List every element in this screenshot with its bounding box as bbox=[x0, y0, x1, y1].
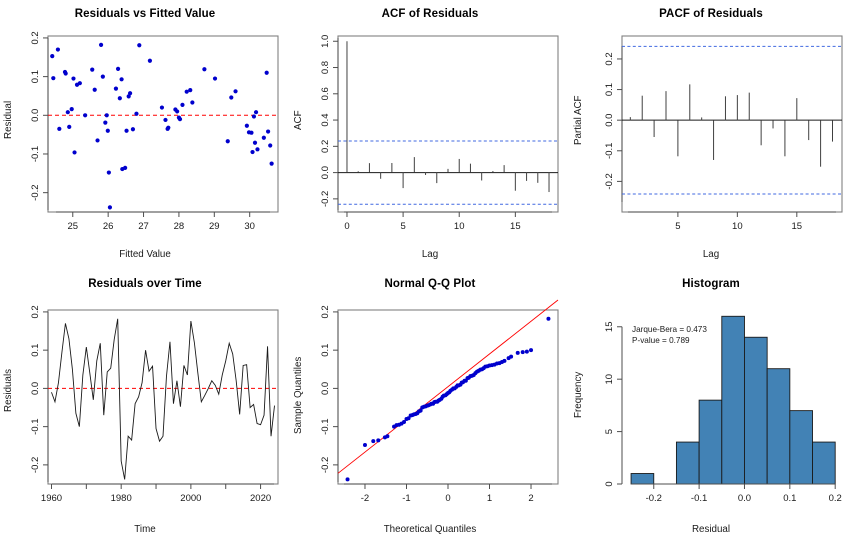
svg-text:-0.1: -0.1 bbox=[30, 418, 41, 434]
svg-text:5: 5 bbox=[604, 429, 615, 434]
svg-text:0.0: 0.0 bbox=[30, 109, 41, 122]
x-axis-label: Theoretical Quantiles bbox=[290, 524, 570, 535]
panel-pacf-of-residuals: PACF of Residuals 51015-0.2-0.10.00.10.2… bbox=[570, 0, 852, 270]
plot-svg: 051015-0.20.00.20.40.60.81.0 bbox=[290, 0, 570, 270]
svg-text:28: 28 bbox=[174, 221, 185, 232]
plot-svg: 1960198020002020-0.2-0.10.00.10.2 bbox=[0, 270, 290, 543]
y-axis-label: Sample Quantiles bbox=[293, 290, 304, 500]
plot-area-residuals-vs-fitted: 252627282930-0.2-0.10.00.10.2 bbox=[0, 0, 290, 270]
y-axis-label: Residual bbox=[3, 20, 14, 220]
panel-normal-qq-plot: Normal Q-Q Plot -2-1012-0.2-0.10.00.10.2… bbox=[290, 270, 570, 543]
y-axis-label: Frequency bbox=[573, 290, 584, 500]
svg-text:-0.2: -0.2 bbox=[646, 493, 662, 504]
svg-text:-1: -1 bbox=[402, 493, 410, 504]
svg-text:1: 1 bbox=[487, 493, 492, 504]
panel-title: Residuals vs Fitted Value bbox=[0, 8, 290, 20]
svg-text:-2: -2 bbox=[361, 493, 369, 504]
svg-text:1.0: 1.0 bbox=[320, 35, 331, 48]
plot-area-acf: 051015-0.20.00.20.40.60.81.0 bbox=[290, 0, 570, 270]
svg-text:25: 25 bbox=[67, 221, 78, 232]
svg-text:0.2: 0.2 bbox=[829, 493, 842, 504]
svg-text:26: 26 bbox=[103, 221, 114, 232]
svg-text:2: 2 bbox=[528, 493, 533, 504]
svg-text:0: 0 bbox=[604, 481, 615, 486]
svg-text:0.1: 0.1 bbox=[604, 83, 615, 96]
svg-text:0.2: 0.2 bbox=[320, 305, 331, 318]
svg-text:5: 5 bbox=[400, 221, 405, 232]
svg-text:0.2: 0.2 bbox=[320, 140, 331, 153]
svg-text:27: 27 bbox=[138, 221, 149, 232]
svg-text:0: 0 bbox=[344, 221, 349, 232]
svg-text:-0.2: -0.2 bbox=[320, 191, 331, 207]
y-axis-label: ACF bbox=[293, 20, 304, 220]
svg-text:-0.2: -0.2 bbox=[30, 184, 41, 200]
svg-text:-0.1: -0.1 bbox=[30, 146, 41, 162]
svg-text:5: 5 bbox=[675, 221, 680, 232]
svg-text:0.2: 0.2 bbox=[604, 52, 615, 65]
svg-text:0.1: 0.1 bbox=[783, 493, 796, 504]
y-axis-label: Partial ACF bbox=[573, 20, 584, 220]
svg-text:2020: 2020 bbox=[250, 493, 271, 504]
plot-svg: -0.2-0.10.00.10.2051015 bbox=[570, 270, 852, 543]
svg-text:0.1: 0.1 bbox=[30, 344, 41, 357]
svg-text:-0.2: -0.2 bbox=[604, 173, 615, 189]
panel-histogram: Histogram -0.2-0.10.00.10.2051015 Jarque… bbox=[570, 270, 852, 543]
plot-svg: 51015-0.2-0.10.00.10.2 bbox=[570, 0, 852, 270]
panel-title: PACF of Residuals bbox=[570, 8, 852, 20]
svg-text:0.2: 0.2 bbox=[30, 305, 41, 318]
panel-title: Normal Q-Q Plot bbox=[290, 278, 570, 290]
plot-svg: -2-1012-0.2-0.10.00.10.2 bbox=[290, 270, 570, 543]
p-value-annotation: P-value = 0.789 bbox=[632, 335, 690, 346]
svg-text:-0.2: -0.2 bbox=[30, 457, 41, 473]
x-axis-label: Residual bbox=[570, 524, 852, 535]
svg-text:-0.1: -0.1 bbox=[604, 143, 615, 159]
panel-residuals-vs-fitted: Residuals vs Fitted Value 252627282930-0… bbox=[0, 0, 290, 270]
svg-text:-0.1: -0.1 bbox=[691, 493, 707, 504]
svg-text:30: 30 bbox=[244, 221, 255, 232]
svg-text:0: 0 bbox=[445, 493, 450, 504]
panel-title: Histogram bbox=[570, 278, 852, 290]
svg-text:2000: 2000 bbox=[180, 493, 201, 504]
plot-svg: 252627282930-0.2-0.10.00.10.2 bbox=[0, 0, 290, 270]
svg-text:-0.2: -0.2 bbox=[320, 457, 331, 473]
svg-text:0.2: 0.2 bbox=[30, 31, 41, 44]
svg-text:1960: 1960 bbox=[41, 493, 62, 504]
panel-title: ACF of Residuals bbox=[290, 8, 570, 20]
svg-text:10: 10 bbox=[604, 374, 615, 385]
svg-text:15: 15 bbox=[510, 221, 521, 232]
svg-text:-0.1: -0.1 bbox=[320, 418, 331, 434]
x-axis-label: Lag bbox=[290, 249, 570, 260]
x-axis-label: Time bbox=[0, 524, 290, 535]
svg-text:0.1: 0.1 bbox=[30, 70, 41, 83]
svg-text:15: 15 bbox=[792, 221, 803, 232]
svg-text:0.8: 0.8 bbox=[320, 61, 331, 74]
svg-text:0.6: 0.6 bbox=[320, 87, 331, 100]
plot-area-residuals-over-time: 1960198020002020-0.2-0.10.00.10.2 bbox=[0, 270, 290, 543]
x-axis-label: Fitted Value bbox=[0, 249, 290, 260]
svg-text:0.0: 0.0 bbox=[320, 166, 331, 179]
plot-area-histogram: -0.2-0.10.00.10.2051015 bbox=[570, 270, 852, 543]
panel-title: Residuals over Time bbox=[0, 278, 290, 290]
svg-text:15: 15 bbox=[604, 321, 615, 332]
svg-text:0.4: 0.4 bbox=[320, 113, 331, 126]
plot-area-pacf: 51015-0.2-0.10.00.10.2 bbox=[570, 0, 852, 270]
svg-text:1980: 1980 bbox=[111, 493, 132, 504]
x-axis-label: Lag bbox=[570, 249, 852, 260]
panel-residuals-over-time: Residuals over Time 1960198020002020-0.2… bbox=[0, 270, 290, 543]
svg-text:0.1: 0.1 bbox=[320, 344, 331, 357]
svg-text:10: 10 bbox=[732, 221, 743, 232]
svg-text:0.0: 0.0 bbox=[30, 382, 41, 395]
svg-text:0.0: 0.0 bbox=[320, 382, 331, 395]
jarque-bera-annotation: Jarque-Bera = 0.473 bbox=[632, 324, 707, 335]
svg-text:29: 29 bbox=[209, 221, 220, 232]
svg-text:0.0: 0.0 bbox=[604, 114, 615, 127]
y-axis-label: Residuals bbox=[3, 290, 14, 490]
svg-text:0.0: 0.0 bbox=[738, 493, 751, 504]
diagnostics-panel-grid: Residuals vs Fitted Value 252627282930-0… bbox=[0, 0, 852, 543]
plot-area-qq: -2-1012-0.2-0.10.00.10.2 bbox=[290, 270, 570, 543]
svg-text:10: 10 bbox=[454, 221, 465, 232]
panel-acf-of-residuals: ACF of Residuals 051015-0.20.00.20.40.60… bbox=[290, 0, 570, 270]
